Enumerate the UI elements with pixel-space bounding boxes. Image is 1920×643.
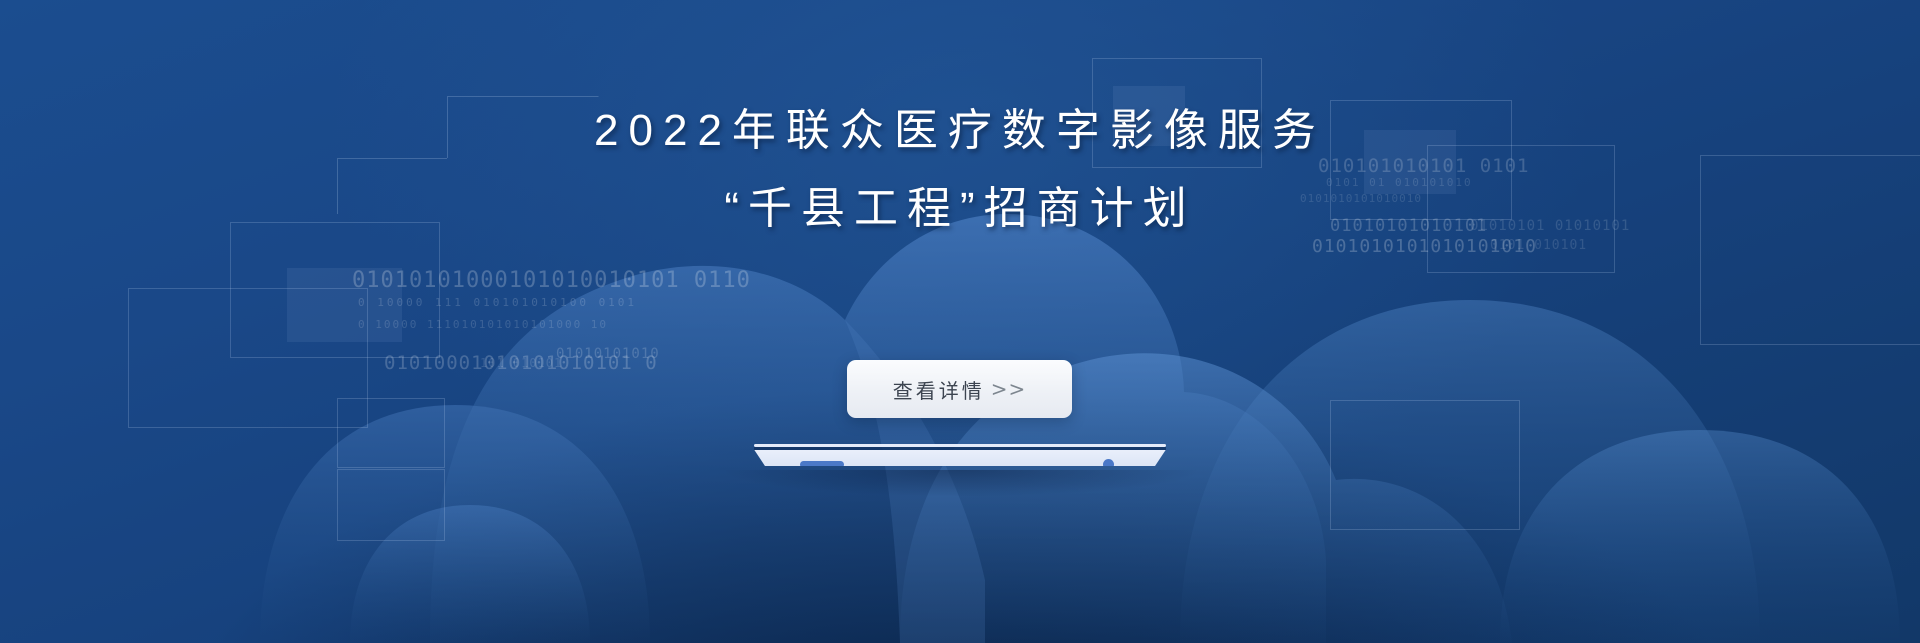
- decor-rect-fill-2: [1113, 86, 1185, 146]
- view-details-label: 查看详情: [893, 375, 985, 404]
- decor-rect-4: [337, 469, 445, 541]
- decor-rect-9: [1330, 400, 1520, 530]
- decor-rect-7: [1427, 145, 1615, 273]
- device-power-dot: [1103, 459, 1114, 470]
- double-chevron-right-icon: >>: [991, 377, 1027, 401]
- decor-step-shape-1: [337, 158, 447, 214]
- promo-banner: 01010101000101010010101 0110 0 10000 111…: [0, 0, 1920, 643]
- decor-rect-3: [337, 398, 445, 468]
- device-body: [748, 450, 1172, 466]
- decor-rect-8: [1700, 155, 1920, 345]
- device-hinge-gap: [754, 447, 1166, 450]
- decor-step-shape-2: [447, 96, 599, 158]
- view-details-button[interactable]: 查看详情 >>: [847, 360, 1072, 418]
- device-port-indicator: [800, 461, 844, 468]
- laptop-base-graphic: [748, 444, 1172, 472]
- decor-rect-fill-1: [287, 268, 402, 342]
